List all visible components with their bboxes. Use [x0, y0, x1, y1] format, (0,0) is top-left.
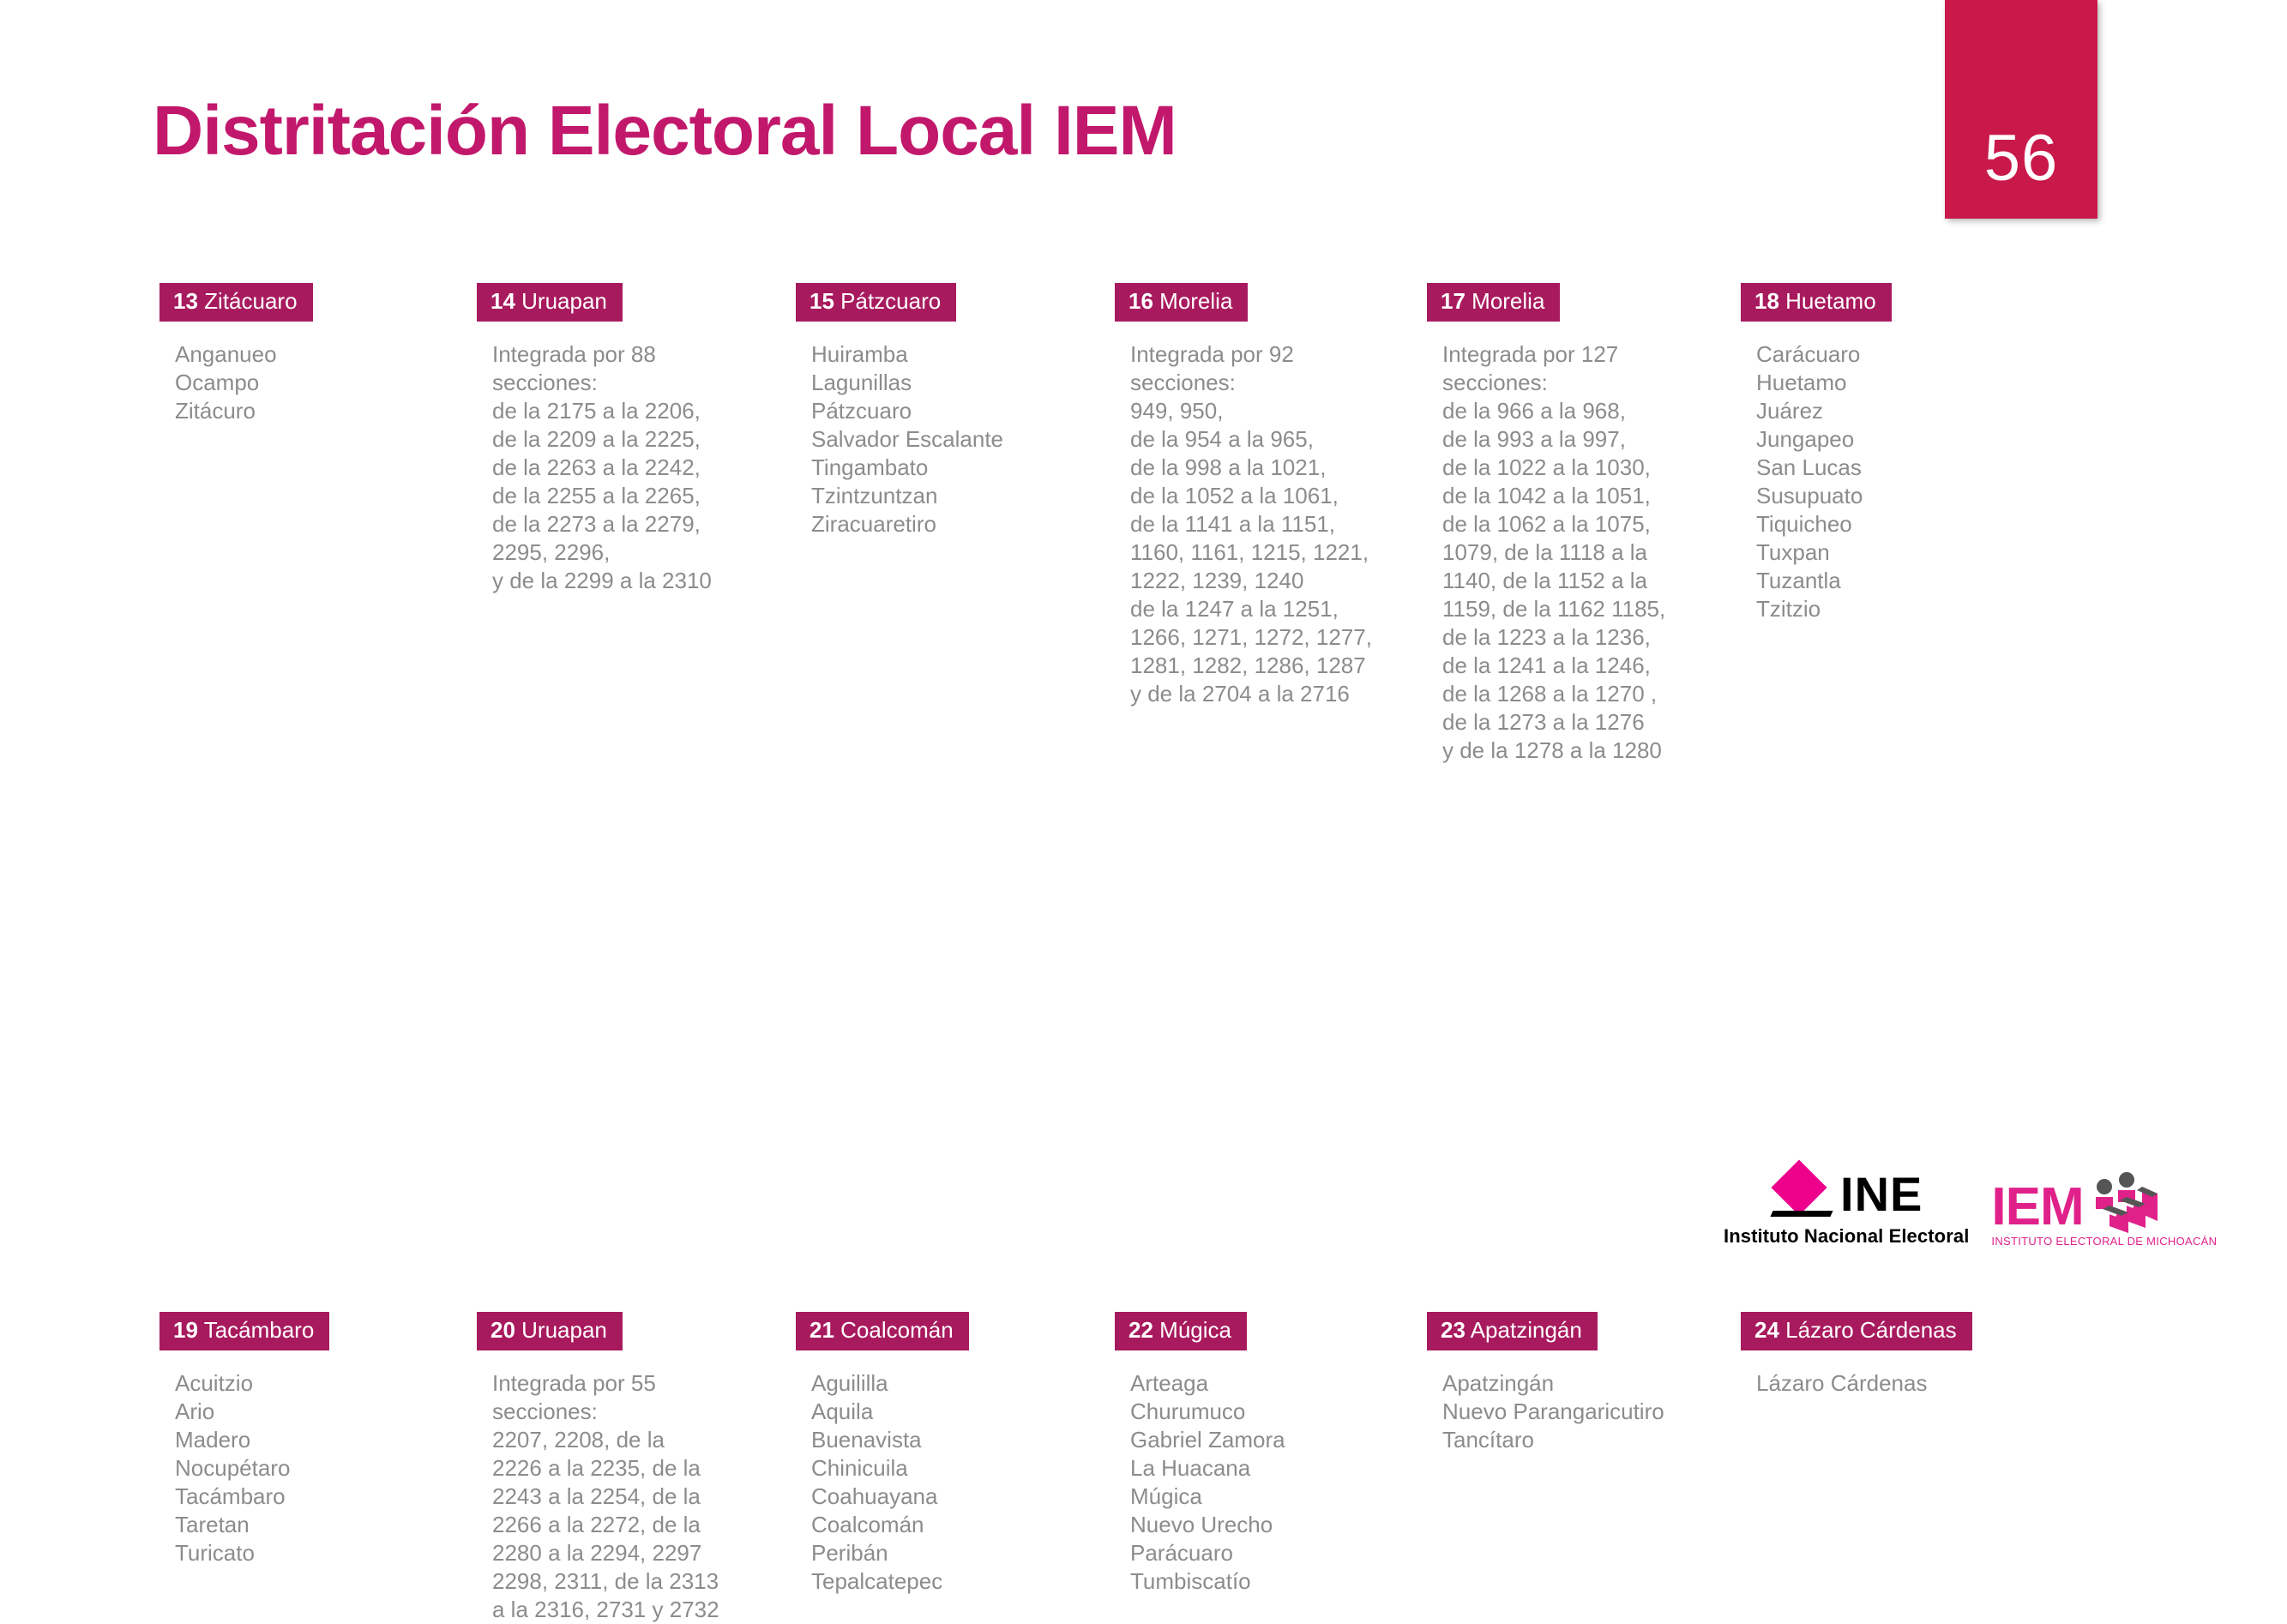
district-card-13: 13 Zitácuaro Anganueo Ocampo Zitácuro	[159, 283, 313, 425]
district-name: Tacámbaro	[204, 1317, 315, 1343]
district-name: Huetamo	[1785, 288, 1876, 314]
district-card-20: 20 Uruapan Integrada por 55 secciones: 2…	[477, 1312, 719, 1624]
district-name: Uruapan	[521, 1317, 607, 1343]
district-body-18: Carácuaro Huetamo Juárez Jungapeo San Lu…	[1741, 340, 1892, 623]
district-name: Múgica	[1159, 1317, 1231, 1343]
district-number: 13	[173, 288, 198, 314]
district-body-21: Aguililla Aquila Buenavista Chinicuila C…	[796, 1369, 969, 1596]
page-number: 56	[1984, 126, 2059, 191]
district-name: Morelia	[1159, 288, 1232, 314]
footer-logos: INE Instituto Nacional Electoral IEM INS…	[1724, 1166, 2217, 1248]
district-card-23: 23 Apatzingán Apatzingán Nuevo Parangari…	[1427, 1312, 1664, 1454]
page-number-badge: 56	[1945, 0, 2097, 219]
district-header-16: 16 Morelia	[1115, 283, 1248, 322]
iem-logo: IEM INSTITUTO ELECTORAL DE MICHOACÁN	[1991, 1171, 2217, 1248]
district-name: Lázaro Cárdenas	[1785, 1317, 1956, 1343]
ine-acronym: INE	[1840, 1172, 1923, 1217]
iem-acronym: IEM	[1991, 1183, 2083, 1231]
district-number: 15	[809, 288, 834, 314]
district-card-15: 15 Pátzcuaro Huiramba Lagunillas Pátzcua…	[796, 283, 1003, 538]
district-number: 16	[1128, 288, 1153, 314]
district-name: Apatzingán	[1471, 1317, 1582, 1343]
district-header-20: 20 Uruapan	[477, 1312, 623, 1350]
district-card-16: 16 Morelia Integrada por 92 secciones: 9…	[1115, 283, 1372, 708]
district-header-14: 14 Uruapan	[477, 283, 623, 322]
district-header-24: 24 Lázaro Cárdenas	[1741, 1312, 1972, 1350]
district-header-13: 13 Zitácuaro	[159, 283, 313, 322]
iem-logo-top: IEM	[1991, 1171, 2217, 1231]
district-number: 24	[1754, 1317, 1779, 1343]
district-body-17: Integrada por 127 secciones: de la 966 a…	[1427, 340, 1665, 765]
district-card-19: 19 Tacámbaro Acuitzio Ario Madero Nocupé…	[159, 1312, 329, 1567]
district-card-22: 22 Múgica Arteaga Churumuco Gabriel Zamo…	[1115, 1312, 1285, 1596]
district-number: 23	[1441, 1317, 1465, 1343]
iem-full-name: INSTITUTO ELECTORAL DE MICHOACÁN	[1991, 1235, 2217, 1248]
ine-logo-top: INE	[1770, 1166, 1923, 1223]
district-body-16: Integrada por 92 secciones: 949, 950, de…	[1115, 340, 1372, 708]
district-number: 22	[1128, 1317, 1153, 1343]
district-header-21: 21 Coalcomán	[796, 1312, 969, 1350]
district-body-20: Integrada por 55 secciones: 2207, 2208, …	[477, 1369, 719, 1624]
ine-logo: INE Instituto Nacional Electoral	[1724, 1166, 1969, 1248]
district-body-24: Lázaro Cárdenas	[1741, 1369, 1972, 1398]
district-header-19: 19 Tacámbaro	[159, 1312, 329, 1350]
district-header-15: 15 Pátzcuaro	[796, 283, 956, 322]
district-name: Coalcomán	[840, 1317, 954, 1343]
district-name: Zitácuaro	[204, 288, 297, 314]
district-name: Morelia	[1472, 288, 1544, 314]
ine-diamond-icon	[1770, 1166, 1833, 1223]
district-card-14: 14 Uruapan Integrada por 88 secciones: d…	[477, 283, 712, 595]
district-number: 17	[1441, 288, 1465, 314]
district-header-23: 23 Apatzingán	[1427, 1312, 1598, 1350]
district-number: 19	[173, 1317, 198, 1343]
district-grid: 13 Zitácuaro Anganueo Ocampo Zitácuro 14…	[0, 283, 2287, 797]
district-body-14: Integrada por 88 secciones: de la 2175 a…	[477, 340, 712, 595]
page-title: Distritación Electoral Local IEM	[153, 96, 1177, 166]
district-header-18: 18 Huetamo	[1741, 283, 1892, 322]
district-header-22: 22 Múgica	[1115, 1312, 1247, 1350]
district-card-21: 21 Coalcomán Aguililla Aquila Buenavista…	[796, 1312, 969, 1596]
district-card-18: 18 Huetamo Carácuaro Huetamo Juárez Jung…	[1741, 283, 1892, 623]
iem-ballot-box-people-icon	[2079, 1171, 2161, 1233]
district-number: 18	[1754, 288, 1779, 314]
district-card-24: 24 Lázaro Cárdenas Lázaro Cárdenas	[1741, 1312, 1972, 1398]
district-body-19: Acuitzio Ario Madero Nocupétaro Tacámbar…	[159, 1369, 329, 1567]
district-body-23: Apatzingán Nuevo Parangaricutiro Tancíta…	[1427, 1369, 1664, 1454]
district-number: 14	[491, 288, 515, 314]
district-row-top: 13 Zitácuaro Anganueo Ocampo Zitácuro 14…	[0, 283, 2287, 797]
district-header-17: 17 Morelia	[1427, 283, 1560, 322]
district-body-13: Anganueo Ocampo Zitácuro	[159, 340, 313, 425]
ine-full-name: Instituto Nacional Electoral	[1724, 1225, 1969, 1248]
district-body-22: Arteaga Churumuco Gabriel Zamora La Huac…	[1115, 1369, 1285, 1596]
district-number: 21	[809, 1317, 834, 1343]
district-body-15: Huiramba Lagunillas Pátzcuaro Salvador E…	[796, 340, 1003, 538]
district-number: 20	[491, 1317, 515, 1343]
district-card-17: 17 Morelia Integrada por 127 secciones: …	[1427, 283, 1665, 765]
district-name: Pátzcuaro	[840, 288, 941, 314]
district-name: Uruapan	[521, 288, 607, 314]
